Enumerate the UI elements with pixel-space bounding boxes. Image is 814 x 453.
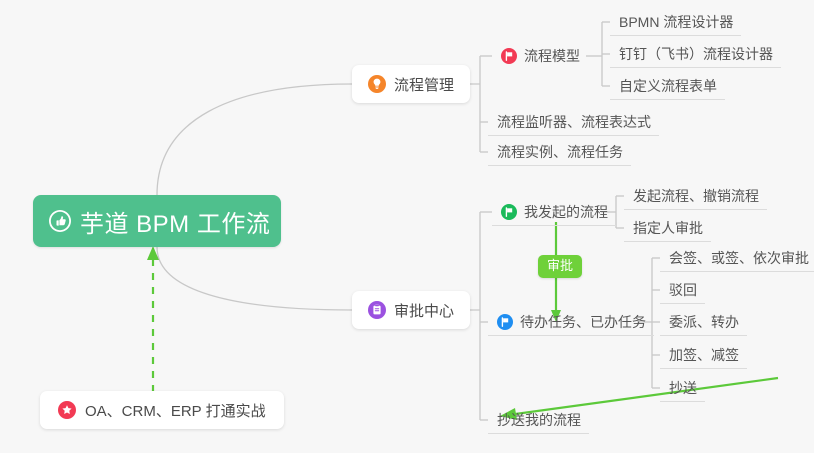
node-dingtalk-designer[interactable]: 钉钉（飞书）流程设计器 xyxy=(610,40,781,68)
node-label: 审批中心 xyxy=(394,300,454,321)
node-custom-form[interactable]: 自定义流程表单 xyxy=(610,72,725,100)
flag-blue-icon xyxy=(497,314,513,330)
node-label: 钉钉（飞书）流程设计器 xyxy=(619,44,773,64)
node-reject[interactable]: 驳回 xyxy=(660,276,705,304)
lightbulb-icon xyxy=(368,75,386,93)
node-process-management[interactable]: 流程管理 xyxy=(352,65,470,103)
node-add-remove-sign[interactable]: 加签、减签 xyxy=(660,341,747,369)
node-label: 发起流程、撤销流程 xyxy=(633,186,759,206)
node-my-started-flows[interactable]: 我发起的流程 xyxy=(492,198,616,226)
thumbs-up-icon xyxy=(49,210,71,232)
node-label: 抄送我的流程 xyxy=(497,410,581,430)
link-root-to-approval-center xyxy=(157,247,352,310)
node-label: 会签、或签、依次审批 xyxy=(669,248,809,268)
node-process-model[interactable]: 流程模型 xyxy=(492,42,588,70)
flag-red-icon xyxy=(501,48,517,64)
node-label: 流程监听器、流程表达式 xyxy=(497,112,651,132)
node-label: 流程实例、流程任务 xyxy=(497,142,623,162)
node-label: 我发起的流程 xyxy=(524,202,608,222)
node-countersign[interactable]: 会签、或签、依次审批 xyxy=(660,244,814,272)
link-root-to-process-management xyxy=(157,84,352,195)
mindmap-canvas: 芋道 BPM 工作流 流程管理 流程模型 BPMN 流程设计器 钉钉（飞书）流程 xyxy=(0,0,814,453)
node-label: 指定人审批 xyxy=(633,218,703,238)
node-label: 自定义流程表单 xyxy=(619,76,717,96)
node-approval-center[interactable]: 审批中心 xyxy=(352,291,470,329)
root-node[interactable]: 芋道 BPM 工作流 xyxy=(33,195,281,247)
approve-tag: 审批 xyxy=(538,255,582,278)
node-oa-crm-erp[interactable]: OA、CRM、ERP 打通实战 xyxy=(40,391,284,429)
flag-green-icon xyxy=(501,204,517,220)
root-label: 芋道 BPM 工作流 xyxy=(80,204,270,239)
node-label: 委派、转办 xyxy=(669,312,739,332)
node-label: OA、CRM、ERP 打通实战 xyxy=(85,400,266,421)
node-cc-to-me-flows[interactable]: 抄送我的流程 xyxy=(488,406,589,434)
node-bpmn-designer[interactable]: BPMN 流程设计器 xyxy=(610,8,741,36)
node-label: 加签、减签 xyxy=(669,345,739,365)
node-label: 驳回 xyxy=(669,280,697,300)
node-assign-approver[interactable]: 指定人审批 xyxy=(624,214,711,242)
node-todo-done-tasks[interactable]: 待办任务、已办任务 xyxy=(488,308,654,336)
arrow-bottom-to-root-head xyxy=(147,246,159,260)
node-label: 流程管理 xyxy=(394,74,454,95)
node-process-listener[interactable]: 流程监听器、流程表达式 xyxy=(488,108,659,136)
node-carbon-copy[interactable]: 抄送 xyxy=(660,374,705,402)
node-start-cancel-flow[interactable]: 发起流程、撤销流程 xyxy=(624,182,767,210)
node-label: BPMN 流程设计器 xyxy=(619,12,733,32)
node-delegate-transfer[interactable]: 委派、转办 xyxy=(660,308,747,336)
node-process-instance[interactable]: 流程实例、流程任务 xyxy=(488,138,631,166)
node-label: 流程模型 xyxy=(524,46,580,66)
star-icon xyxy=(58,401,76,419)
clipboard-icon xyxy=(368,301,386,319)
node-label: 抄送 xyxy=(669,378,697,398)
node-label: 待办任务、已办任务 xyxy=(520,312,646,332)
